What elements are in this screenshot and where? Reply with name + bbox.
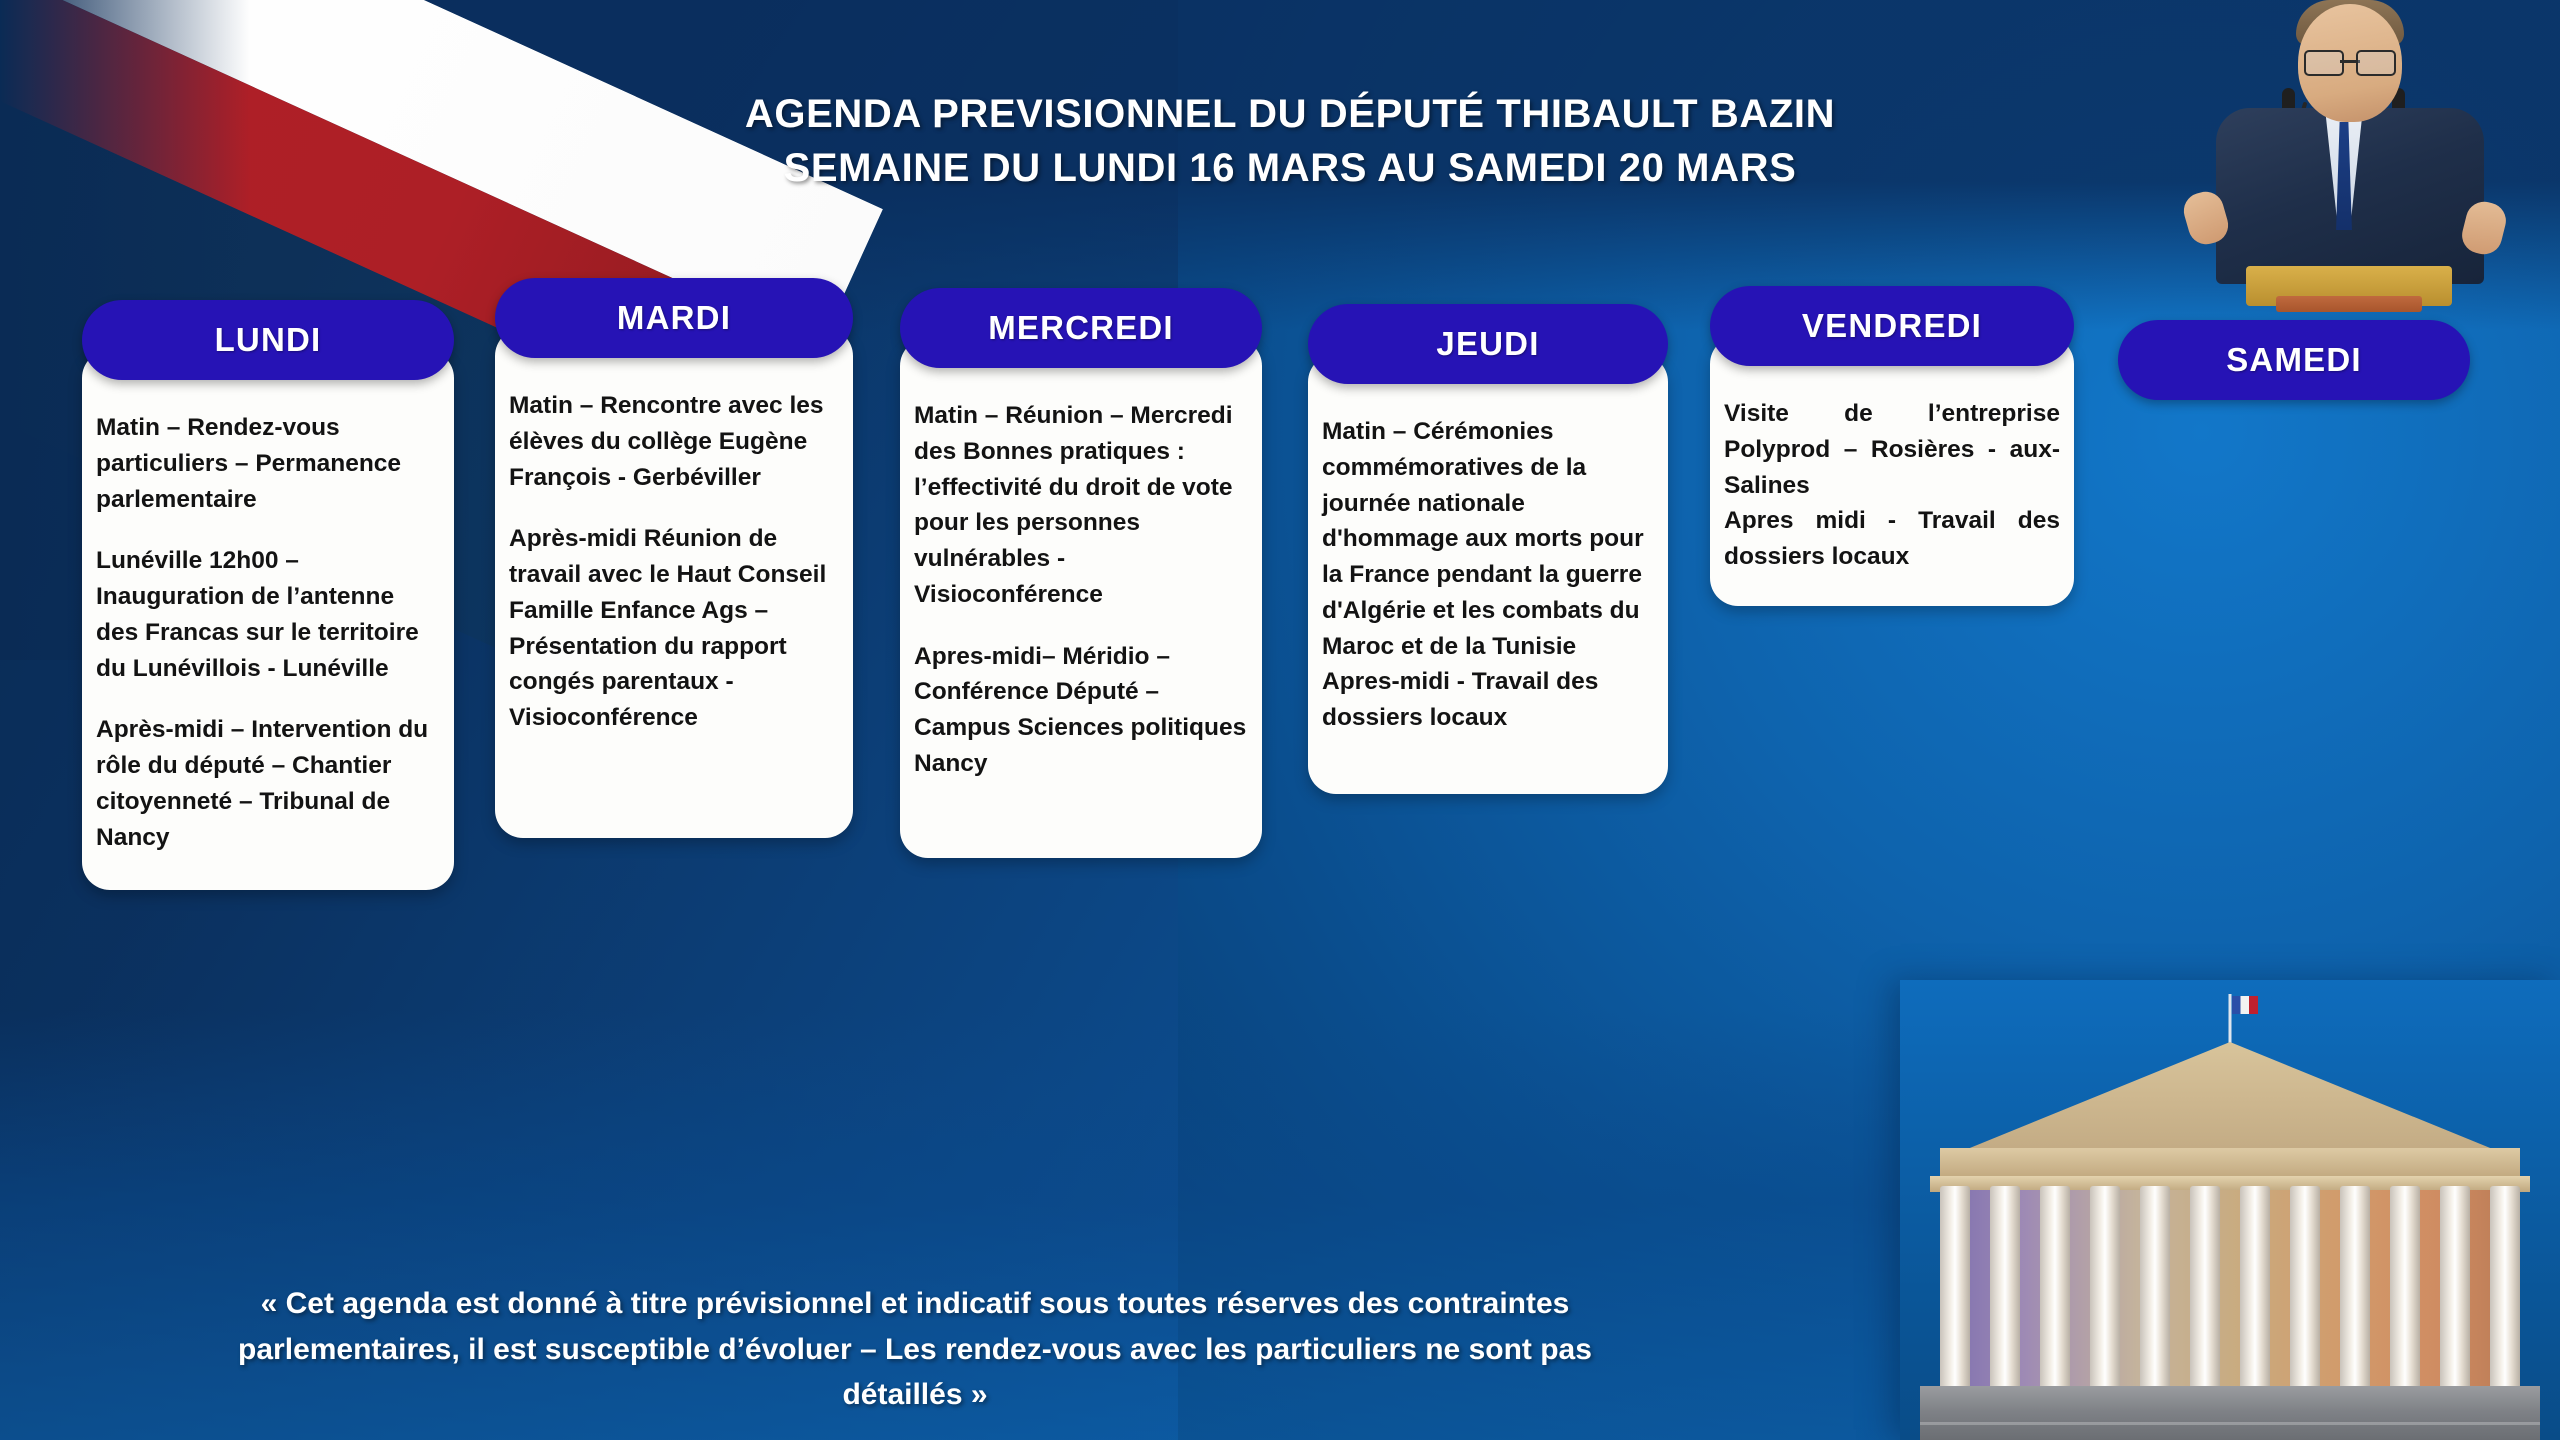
title-line-1: AGENDA PREVISIONNEL DU DÉPUTÉ THIBAULT B… (745, 92, 1835, 136)
eyeglasses-icon (2304, 50, 2396, 72)
day-header-mardi[interactable]: MARDI (495, 278, 853, 358)
day-header-samedi[interactable]: SAMEDI (2118, 320, 2470, 400)
day-column-samedi: SAMEDI (2118, 320, 2470, 400)
agenda-entry: Lunéville 12h00 – Inauguration de l’ante… (96, 543, 440, 686)
day-label-samedi: SAMEDI (2226, 341, 2362, 379)
agenda-entry: Matin – Rendez-vous particuliers – Perma… (96, 410, 440, 517)
podium-base (2276, 296, 2422, 312)
day-card-lundi: Matin – Rendez-vous particuliers – Perma… (82, 350, 454, 890)
day-column-mercredi: MERCREDI Matin – Réunion – Mercredi des … (900, 288, 1262, 858)
title-line-2: SEMAINE DU LUNDI 16 MARS AU SAMEDI 20 MA… (470, 142, 2110, 196)
day-label-mardi: MARDI (617, 299, 731, 337)
day-card-mercredi: Matin – Réunion – Mercredi des Bonnes pr… (900, 338, 1262, 858)
day-header-jeudi[interactable]: JEUDI (1308, 304, 1668, 384)
agenda-entry: Après-midi – Intervention du rôle du dép… (96, 712, 440, 855)
day-label-jeudi: JEUDI (1436, 325, 1539, 363)
day-header-lundi[interactable]: LUNDI (82, 300, 454, 380)
disclaimer-line-1: « Cet agenda est donné à titre prévision… (0, 1281, 1830, 1327)
page-title: AGENDA PREVISIONNEL DU DÉPUTÉ THIBAULT B… (470, 88, 2110, 195)
disclaimer-line-2: parlementaires, il est susceptible d’évo… (0, 1327, 1830, 1373)
day-label-lundi: LUNDI (215, 321, 322, 359)
agenda-entry: Matin – Rencontre avec les élèves du col… (509, 388, 839, 495)
day-column-vendredi: VENDREDI Visite de l’entreprise Polyprod… (1710, 286, 2074, 606)
day-card-mardi: Matin – Rencontre avec les élèves du col… (495, 328, 853, 838)
agenda-entry: Matin – Réunion – Mercredi des Bonnes pr… (914, 398, 1248, 613)
agenda-entry: Après-midi Réunion de travail avec le Ha… (509, 521, 839, 736)
day-label-vendredi: VENDREDI (1802, 307, 1982, 345)
day-card-jeudi: Matin – Cérémonies commémoratives de la … (1308, 354, 1668, 794)
agenda-entry: Visite de l’entreprise Polyprod – Rosièr… (1724, 396, 2060, 503)
day-header-mercredi[interactable]: MERCREDI (900, 288, 1262, 368)
deputy-speaking-at-podium-photo (2180, 0, 2510, 312)
week-agenda-grid: LUNDI Matin – Rendez-vous particuliers –… (0, 300, 2560, 1300)
day-column-mardi: MARDI Matin – Rencontre avec les élèves … (495, 278, 853, 838)
disclaimer-line-3: détaillés » (0, 1372, 1830, 1418)
agenda-entry: Apres-midi– Méridio – Conférence Député … (914, 639, 1248, 782)
disclaimer-note: « Cet agenda est donné à titre prévision… (0, 1281, 1830, 1418)
agenda-entry: Apres midi - Travail des dossiers locaux (1724, 503, 2060, 575)
agenda-entry: Matin – Cérémonies commémoratives de la … (1322, 414, 1654, 664)
building-steps (1920, 1386, 2540, 1440)
day-label-mercredi: MERCREDI (988, 309, 1174, 347)
day-column-lundi: LUNDI Matin – Rendez-vous particuliers –… (82, 300, 454, 890)
day-column-jeudi: JEUDI Matin – Cérémonies commémoratives … (1308, 304, 1668, 794)
day-header-vendredi[interactable]: VENDREDI (1710, 286, 2074, 366)
day-card-vendredi: Visite de l’entreprise Polyprod – Rosièr… (1710, 336, 2074, 606)
agenda-entry: Apres-midi - Travail des dossiers locaux (1322, 664, 1654, 736)
